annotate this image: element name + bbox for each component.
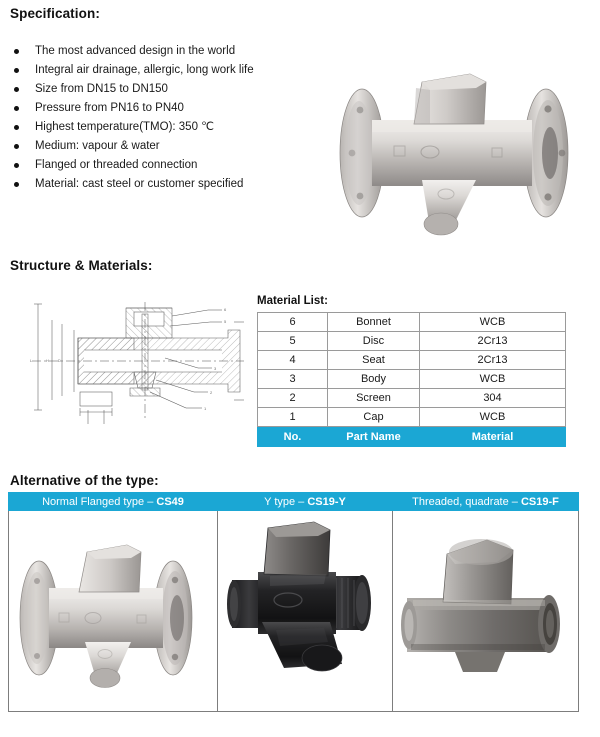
- bullet-icon: [14, 144, 19, 149]
- cell-part: Bonnet: [328, 313, 420, 332]
- list-item: Pressure from PN16 to PN40: [10, 99, 310, 118]
- header-prefix-text: Normal Flanged type –: [42, 496, 156, 508]
- table-header-row: Normal Flanged type – CS49 Y type – CS19…: [9, 493, 579, 511]
- svg-text:H: H: [46, 358, 49, 363]
- specification-list: The most advanced design in the world In…: [10, 42, 310, 194]
- table-header-row: No. Part Name Material: [258, 427, 566, 447]
- cell-part: Body: [328, 370, 420, 389]
- header-prefix-text: Threaded, quadrate –: [412, 496, 521, 508]
- cell-no: 5: [258, 332, 328, 351]
- list-item-label: Material: cast steel or customer specifi…: [35, 175, 243, 194]
- cell-no: 1: [258, 408, 328, 427]
- column-header-normal-flanged-type: Normal Flanged type – CS49: [9, 493, 218, 511]
- alternative-types-table: Normal Flanged type – CS49 Y type – CS19…: [8, 492, 579, 712]
- cell-material: WCB: [420, 408, 566, 427]
- column-header-y-type: Y type – CS19-Y: [218, 493, 393, 511]
- header-code-text: CS19-Y: [307, 496, 346, 508]
- table-row: 6 Bonnet WCB: [258, 313, 566, 332]
- alternative-types-heading: Alternative of the type:: [10, 473, 159, 488]
- table-row: 5 Disc 2Cr13: [258, 332, 566, 351]
- y-type-valve-photo: [218, 518, 392, 704]
- list-item-label: The most advanced design in the world: [35, 42, 235, 61]
- list-item: The most advanced design in the world: [10, 42, 310, 61]
- bullet-icon: [14, 182, 19, 187]
- column-header-part-name: Part Name: [328, 427, 420, 447]
- bullet-icon: [14, 49, 19, 54]
- flanged-steam-trap-valve-photo: [326, 52, 578, 238]
- cell-no: 3: [258, 370, 328, 389]
- table-row: [9, 511, 579, 712]
- list-item: Flanged or threaded connection: [10, 156, 310, 175]
- cell-y-type-photo: [218, 511, 393, 712]
- threaded-quadrate-valve-photo: [393, 518, 578, 704]
- list-item: Integral air drainage, allergic, long wo…: [10, 61, 310, 80]
- header-prefix-text: Y type –: [264, 496, 307, 508]
- list-item: Size from DN15 to DN150: [10, 80, 310, 99]
- list-item: Medium: vapour & water: [10, 137, 310, 156]
- cell-part: Cap: [328, 408, 420, 427]
- list-item: Material: cast steel or customer specifi…: [10, 175, 310, 194]
- cell-material: WCB: [420, 370, 566, 389]
- bullet-icon: [14, 87, 19, 92]
- bullet-icon: [14, 163, 19, 168]
- bullet-icon: [14, 68, 19, 73]
- list-item: Highest temperature(TMO): 350 ℃: [10, 118, 310, 137]
- svg-text:D: D: [58, 358, 61, 363]
- list-item-label: Integral air drainage, allergic, long wo…: [35, 61, 254, 80]
- valve-cross-section-drawing: L H D 6 5 3 2 1: [22, 292, 250, 430]
- cell-no: 4: [258, 351, 328, 370]
- cell-part: Disc: [328, 332, 420, 351]
- column-header-material: Material: [420, 427, 566, 447]
- cell-material: 2Cr13: [420, 351, 566, 370]
- header-code-text: CS49: [156, 496, 184, 508]
- flanged-type-valve-photo: [9, 518, 217, 704]
- cell-material: 304: [420, 389, 566, 408]
- header-code-text: CS19-F: [521, 496, 559, 508]
- column-header-threaded-quadrate: Threaded, quadrate – CS19-F: [393, 493, 579, 511]
- specification-heading: Specification:: [10, 6, 100, 21]
- cell-part: Seat: [328, 351, 420, 370]
- list-item-label: Size from DN15 to DN150: [35, 80, 168, 99]
- cell-no: 2: [258, 389, 328, 408]
- material-list-heading: Material List:: [257, 295, 328, 307]
- material-list-table: 6 Bonnet WCB 5 Disc 2Cr13 4 Seat 2Cr13 3…: [257, 312, 566, 447]
- cell-threaded-quadrate-photo: [393, 511, 579, 712]
- cell-no: 6: [258, 313, 328, 332]
- bullet-icon: [14, 106, 19, 111]
- table-row: 1 Cap WCB: [258, 408, 566, 427]
- cell-part: Screen: [328, 389, 420, 408]
- table-row: 3 Body WCB: [258, 370, 566, 389]
- cell-flanged-type-photo: [9, 511, 218, 712]
- cell-material: WCB: [420, 313, 566, 332]
- list-item-label: Medium: vapour & water: [35, 137, 160, 156]
- cell-material: 2Cr13: [420, 332, 566, 351]
- bullet-icon: [14, 125, 19, 130]
- list-item-label: Highest temperature(TMO): 350 ℃: [35, 118, 214, 137]
- list-item-label: Pressure from PN16 to PN40: [35, 99, 184, 118]
- table-row: 2 Screen 304: [258, 389, 566, 408]
- structure-materials-heading: Structure & Materials:: [10, 258, 153, 273]
- table-row: 4 Seat 2Cr13: [258, 351, 566, 370]
- list-item-label: Flanged or threaded connection: [35, 156, 197, 175]
- column-header-no: No.: [258, 427, 328, 447]
